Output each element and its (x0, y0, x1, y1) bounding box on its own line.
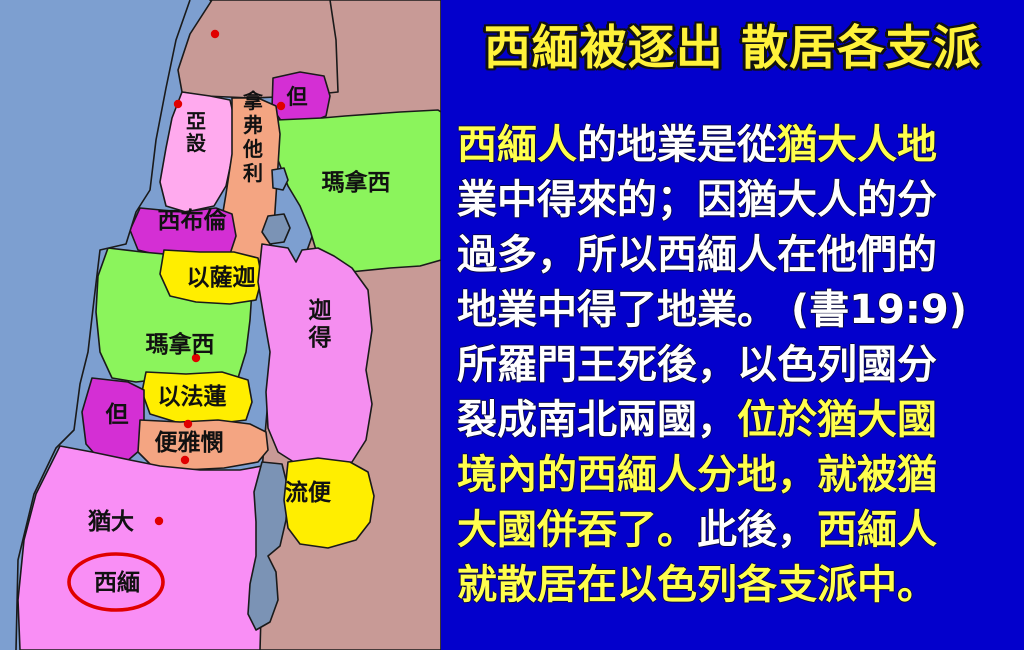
body-line: 境內的西緬人分地，就被猶 (457, 448, 1008, 503)
tribal-map-svg: 亞設 拿弗他利 但 瑪拿西 西布倫 以薩迦 瑪拿西 迦得 以法蓮 但 便雅憫 流… (0, 0, 441, 650)
city-dot (211, 30, 219, 38)
region-label-reuben: 流便 (285, 479, 332, 506)
region-label-gad: 迦得 (308, 298, 332, 351)
body-line: 業中得來的；因猶大人的分 (457, 173, 1008, 228)
region-label-dan-west: 但 (106, 402, 129, 428)
body-line: 就散居在以色列各支派中。 (457, 558, 1008, 613)
body-text-highlight: 西緬人 (457, 122, 577, 168)
body-text-highlight: 大國併吞了。 (457, 507, 697, 553)
region-label-manasseh-east: 瑪拿西 (322, 169, 391, 196)
map-panel: 亞設 拿弗他利 但 瑪拿西 西布倫 以薩迦 瑪拿西 迦得 以法蓮 但 便雅憫 流… (0, 0, 441, 650)
body-text: 的地業是從 (577, 122, 777, 168)
text-panel: 西緬被逐出 散居各支派 西緬人的地業是從猶大人地業中得來的；因猶大人的分過多，所… (441, 0, 1024, 650)
city-dot (155, 517, 163, 525)
region-gad (258, 244, 372, 470)
body-line: 西緬人的地業是從猶大人地 (457, 118, 1008, 173)
body-line: 大國併吞了。此後，西緬人 (457, 503, 1008, 558)
body-text: 所羅門王死後，以色列國分 (457, 342, 937, 388)
body-text: 過多，所以西緬人在他們的 (457, 232, 937, 278)
region-label-zebulun: 西布倫 (158, 207, 228, 234)
region-label-ephraim: 以法蓮 (158, 384, 227, 410)
region-label-benjamin: 便雅憫 (155, 430, 224, 456)
body-text-highlight: 西緬人 (817, 507, 937, 553)
body-text: 此後， (697, 507, 817, 553)
city-dot (174, 100, 182, 108)
region-label-issachar: 以薩迦 (187, 265, 256, 291)
city-dot (184, 420, 192, 428)
city-dot (181, 456, 189, 464)
body-copy: 西緬人的地業是從猶大人地業中得來的；因猶大人的分過多，所以西緬人在他們的地業中得… (457, 118, 1008, 613)
region-label-dan-north: 但 (287, 85, 308, 109)
body-line: 所羅門王死後，以色列國分 (457, 338, 1008, 393)
body-text: 地業中得了地業。 (書19:9) (457, 287, 967, 333)
body-text-highlight: 猶大人地 (777, 122, 937, 168)
headline-text: 西緬被逐出 散居各支派 (484, 21, 981, 76)
body-line: 裂成南北兩國，位於猶大國 (457, 393, 1008, 448)
body-text-highlight: 就散居在以色列各支派中。 (457, 562, 937, 608)
slide-root: 亞設 拿弗他利 但 瑪拿西 西布倫 以薩迦 瑪拿西 迦得 以法蓮 但 便雅憫 流… (0, 0, 1024, 650)
body-line: 地業中得了地業。 (書19:9) (457, 283, 1008, 338)
slide-headline: 西緬被逐出 散居各支派 (441, 24, 1024, 73)
region-label-manasseh-west: 瑪拿西 (146, 331, 215, 358)
region-label-asher: 亞設 (186, 109, 207, 155)
body-text-highlight: 位於猶大國 (737, 397, 937, 443)
region-label-judah: 猶大 (88, 508, 134, 535)
body-text: 業中得來的；因猶大人的分 (457, 177, 937, 223)
body-text-highlight: 境內的西緬人分地，就被猶 (457, 452, 937, 498)
region-label-naphtali: 拿弗他利 (242, 89, 264, 185)
region-label-simeon: 西緬 (94, 569, 140, 596)
city-dot (277, 102, 285, 110)
body-text: 裂成南北兩國， (457, 397, 737, 443)
region-judah (18, 446, 268, 650)
body-line: 過多，所以西緬人在他們的 (457, 228, 1008, 283)
